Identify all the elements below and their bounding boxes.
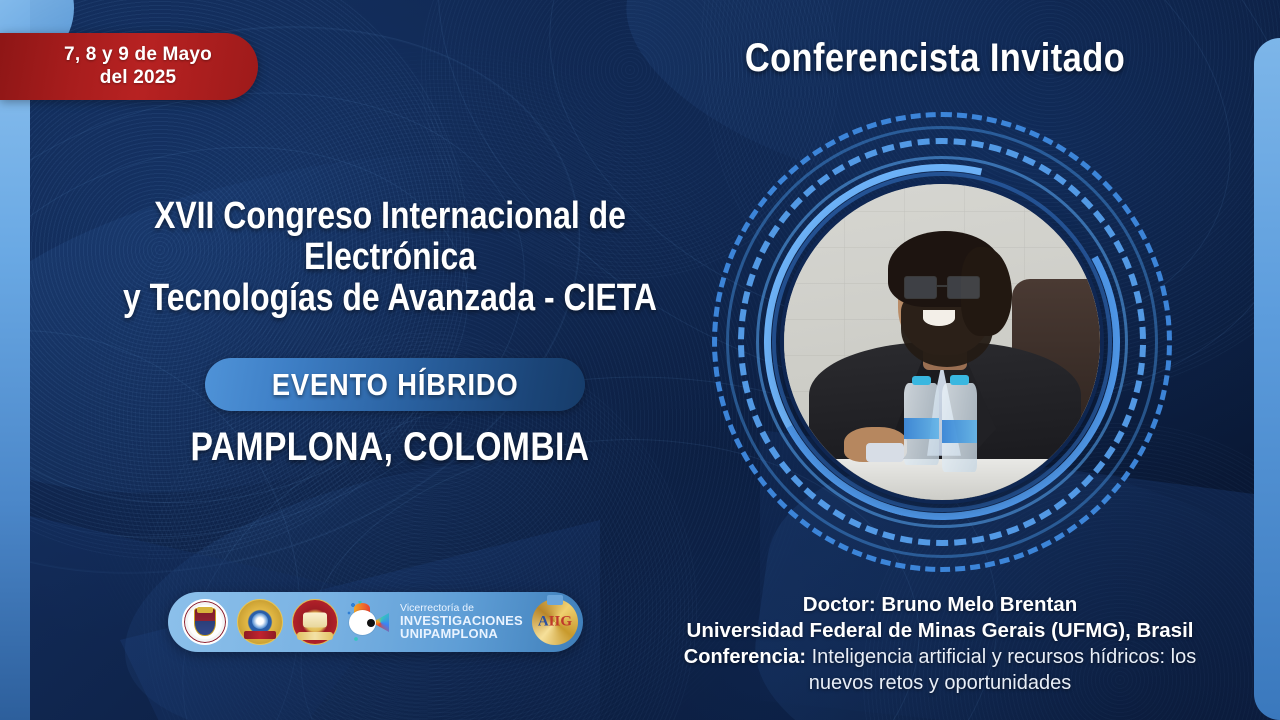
photo-glasses-right-lens: [947, 276, 980, 300]
fish-bubble-dots: [347, 601, 391, 643]
bottle-label-2: [942, 420, 977, 443]
bottle-cap-1: [912, 376, 931, 385]
event-mode-badge: EVENTO HÍBRIDO: [205, 358, 585, 411]
vicerrectoria-wordmark: Vicerrectoría de INVESTIGACIONES UNIPAMP…: [400, 603, 523, 640]
vicerrectoria-line2: INVESTIGACIONES: [400, 614, 523, 627]
speaker-info-block: Doctor: Bruno Melo Brentan Universidad F…: [600, 592, 1280, 696]
gold-ring-gap: [547, 595, 563, 605]
date-badge-line2: del 2025: [100, 67, 177, 88]
speaker-photo: [784, 184, 1100, 500]
photo-glasses-left-lens: [904, 276, 937, 300]
photo-water-bottle-1: [904, 383, 939, 465]
talk-line-1: Conferencia: Inteligencia artificial y r…: [600, 644, 1280, 670]
conference-poster: 7, 8 y 9 de Mayo del 2025 Conferencista …: [0, 0, 1280, 720]
speaker-portrait-frame: [712, 112, 1172, 572]
bottle-label-1: [904, 418, 939, 439]
speaker-name: Doctor: Bruno Melo Brentan: [600, 592, 1280, 618]
left-edge-stripe: [0, 0, 30, 720]
gold-ring-monogram-letter: A: [538, 614, 549, 630]
sponsor-logo-bar: Vicerrectoría de INVESTIGACIONES UNIPAMP…: [168, 592, 583, 652]
date-badge-text: 7, 8 y 9 de Mayo del 2025: [46, 44, 212, 89]
universidad-de-pamplona-seal-icon: [182, 599, 228, 645]
red-gold-accreditation-seal-icon: [292, 599, 338, 645]
congress-title: XVII Congreso Internacional de Electróni…: [60, 196, 720, 319]
congress-title-line2: Electrónica: [113, 237, 667, 278]
gold-ring-monogram: AIIG: [538, 614, 572, 631]
congress-title-line3: y Tecnologías de Avanzada - CIETA: [113, 278, 667, 319]
congress-title-line1: XVII Congreso Internacional de: [113, 196, 667, 237]
photo-glasses-bridge: [937, 285, 948, 287]
vicerrectoria-line3: UNIPAMPLONA: [400, 627, 523, 640]
invited-speaker-heading: Conferencista Invitado: [733, 36, 1137, 81]
vicerrectoria-fish-icon: [347, 601, 391, 643]
talk-title-line1: Inteligencia artificial y recursos hídri…: [806, 646, 1196, 668]
date-badge-line1: 7, 8 y 9 de Mayo: [64, 44, 212, 65]
photo-shirt-cuff: [866, 443, 904, 462]
gold-anniversary-seal-icon: [237, 599, 283, 645]
gold-ring-logo-icon: AIIG: [532, 599, 578, 645]
background-swirl-3: [0, 108, 496, 543]
date-badge: 7, 8 y 9 de Mayo del 2025: [0, 33, 258, 100]
background-facet-1: [0, 440, 400, 720]
photo-smile: [923, 310, 955, 326]
gold-ring-monogram-sub: IIG: [549, 614, 572, 630]
event-mode-label: EVENTO HÍBRIDO: [272, 367, 519, 403]
speaker-affiliation: Universidad Federal de Minas Gerais (UFM…: [600, 618, 1280, 644]
event-location-label: PAMPLONA, COLOMBIA: [113, 425, 667, 470]
talk-title-line2: nuevos retos y oportunidades: [600, 670, 1280, 696]
background-sheet-1: [0, 100, 646, 560]
photo-water-bottle-2: [942, 383, 977, 471]
bottle-cap-2: [950, 375, 969, 385]
talk-label: Conferencia:: [684, 646, 806, 668]
